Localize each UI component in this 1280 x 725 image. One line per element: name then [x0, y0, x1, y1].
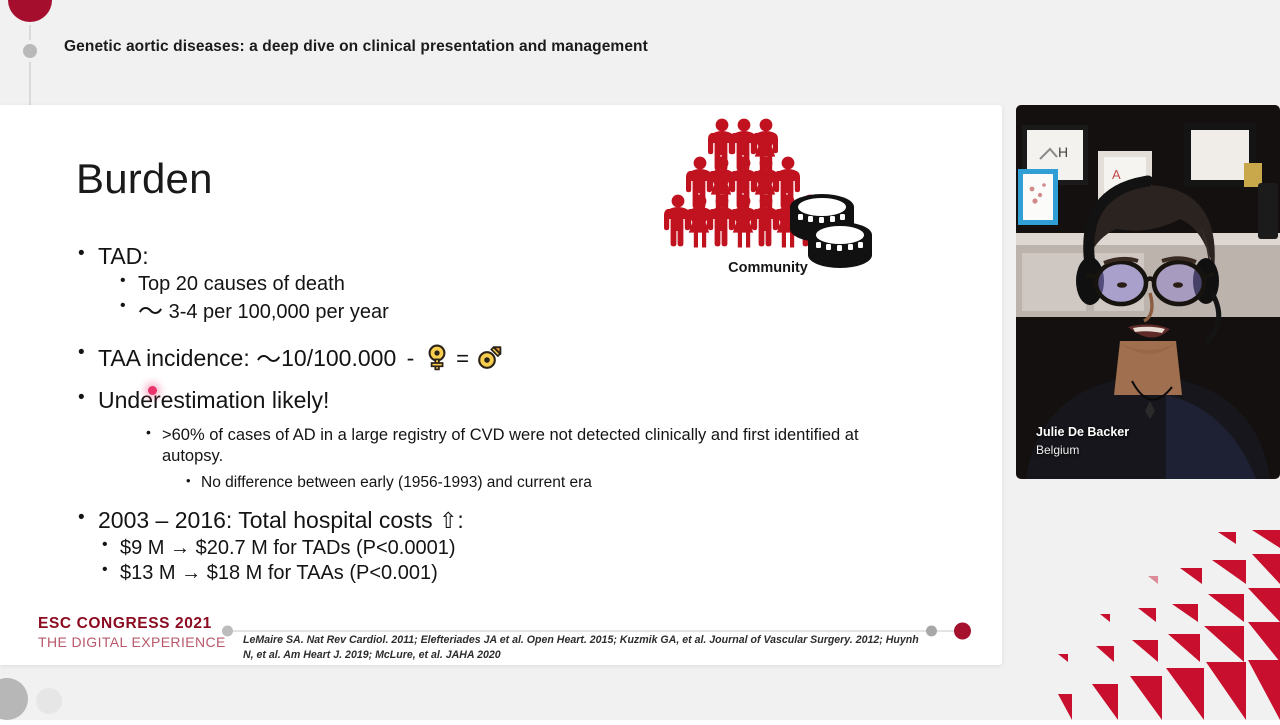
bullet-tad-text: TAD:: [98, 243, 149, 269]
timeline-dot-icon: [23, 44, 37, 58]
bullet-no-difference-text: No difference between early (1956-1993) …: [201, 474, 592, 491]
bullet-taa-incidence: TAA incidence: 〜10/100.000 - =: [76, 344, 966, 375]
bullet-tad: TAD:: [76, 245, 966, 268]
bullet-taa-separator: -: [403, 345, 419, 371]
bullet-cost-taa-text: $13 M → $18 M for TAAs (P<0.001): [120, 562, 438, 584]
bullet-top20: Top 20 causes of death: [118, 274, 966, 295]
slide-heading: Burden: [76, 155, 213, 203]
tilde-symbol: 〜: [138, 298, 163, 326]
bullet-cost-tad: $9 M → $20.7 M for TADs (P<0.0001): [100, 538, 966, 559]
bullet-ad-registry-text: >60% of cases of AD in a large registry …: [162, 426, 859, 465]
equals-symbol: =: [455, 346, 470, 371]
bullet-costs-colon: :: [457, 507, 463, 533]
progress-dot-middle[interactable]: [926, 626, 937, 637]
bullet-taa-prefix: TAA incidence:: [98, 345, 250, 371]
decorative-triangles: [1040, 530, 1280, 720]
cursor-marker-icon: [148, 386, 157, 395]
bullet-costs-head-text: 2003 – 2016: Total hospital costs: [98, 507, 433, 533]
page-title: Genetic aortic diseases: a deep dive on …: [64, 38, 648, 56]
bullet-top20-text: Top 20 causes of death: [138, 273, 345, 295]
female-symbol-icon: [426, 344, 448, 375]
slide-panel: Burden: [0, 105, 1002, 665]
bullet-hospital-costs: 2003 – 2016: Total hospital costs ⇧:: [76, 509, 966, 532]
bullet-no-difference: No difference between early (1956-1993) …: [184, 474, 966, 492]
slide-citations: LeMaire SA. Nat Rev Cardiol. 2011; Eleft…: [243, 633, 923, 664]
tilde-symbol-2: 〜: [256, 346, 281, 374]
speaker-name: Julie De Backer: [1036, 425, 1129, 439]
svg-text:A: A: [1112, 167, 1121, 182]
speaker-video-panel[interactable]: H A L: [1016, 105, 1280, 479]
speaker-country: Belgium: [1036, 443, 1079, 457]
up-arrow-icon: ⇧: [439, 508, 457, 533]
bullet-rate: 〜 3-4 per 100,000 per year: [118, 299, 966, 325]
bullet-cost-tad-text: $9 M → $20.7 M for TADs (P<0.0001): [120, 537, 456, 559]
slide-progress-rail[interactable]: [228, 630, 968, 632]
progress-dot-start[interactable]: [222, 626, 233, 637]
esc-congress-logo: ESC CONGRESS 2021 THE DIGITAL EXPERIENCE: [38, 615, 226, 650]
male-symbol-icon: [477, 344, 503, 375]
bullet-underestimation-text: Underestimation likely!: [98, 387, 329, 413]
bullet-taa-value: 10/100.000: [281, 345, 396, 371]
progress-dot-current[interactable]: [954, 623, 971, 640]
bullet-rate-text: 3-4 per 100,000 per year: [169, 301, 389, 323]
decorative-circle-ghost: [36, 688, 62, 714]
esc-logo-line2: THE DIGITAL EXPERIENCE: [38, 634, 226, 650]
svg-text:H: H: [1058, 144, 1068, 160]
esc-logo-line1: ESC CONGRESS 2021: [38, 615, 226, 633]
bullet-ad-registry: >60% of cases of AD in a large registry …: [144, 425, 922, 467]
bullet-underestimation: Underestimation likely!: [76, 389, 966, 412]
bullet-cost-taa: $13 M → $18 M for TAAs (P<0.001): [100, 563, 966, 584]
